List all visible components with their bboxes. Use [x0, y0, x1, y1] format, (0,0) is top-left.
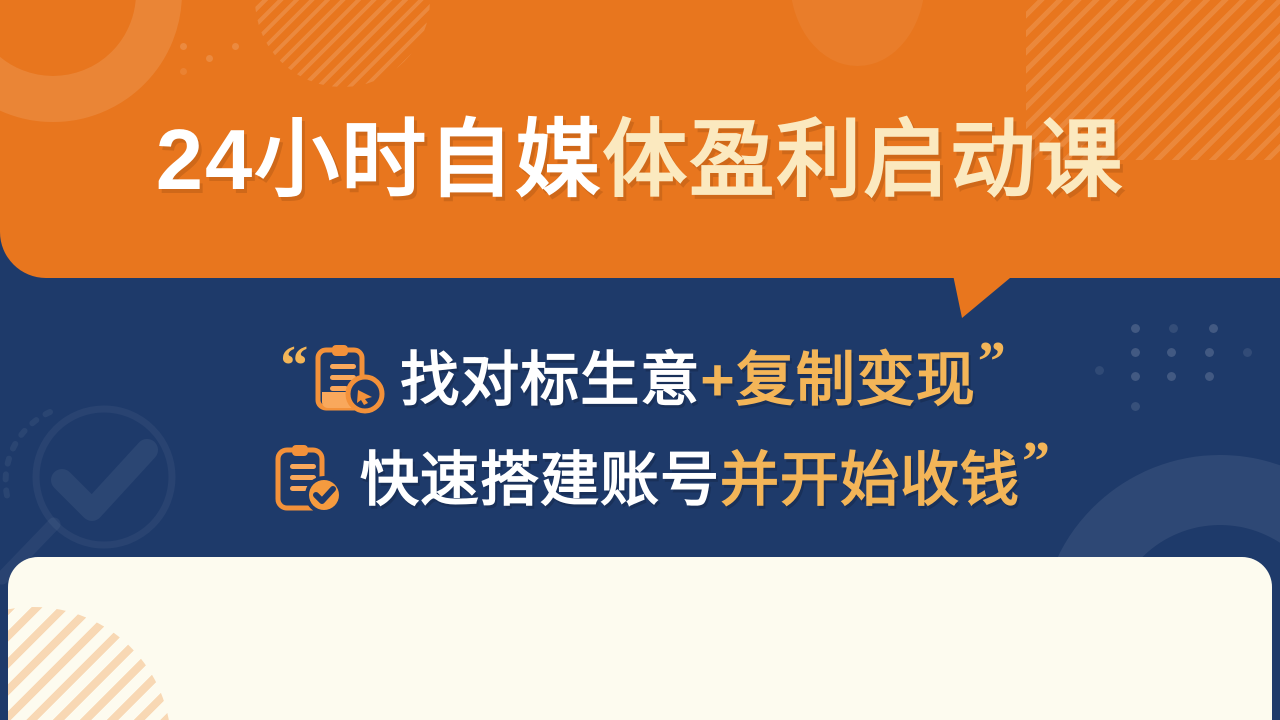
bottom-content-card [8, 557, 1272, 720]
speech-bubble-tail [952, 270, 1018, 320]
quote-open-mark: “ [280, 338, 308, 394]
ring-top-left-decoration [0, 0, 182, 122]
tagline-text: 找对标生意+复制变现 [400, 351, 975, 410]
tagline-row: 快速搭建账号并开始收钱 ” [0, 430, 1280, 530]
stripes-top-center-decoration [255, 0, 430, 87]
quote-close-mark: ” [978, 334, 1006, 390]
tagline-list: “ 找对标生意+复制变现 ” [0, 330, 1280, 530]
tagline-text-gold: 并开始收钱 [720, 447, 1020, 513]
title-segment-white: 24小时自媒 [156, 113, 603, 208]
tagline-text-white: 找对标生意 [400, 347, 700, 413]
tagline-text: 快速搭建账号并开始收钱 [360, 451, 1020, 510]
quote-close-mark: ” [1022, 434, 1050, 490]
clipboard-search-icon [310, 342, 386, 418]
oval-decoration [790, 0, 925, 66]
clipboard-check-icon [270, 442, 346, 518]
page-title: 24小时自媒体盈利启动课 [0, 118, 1280, 203]
poster-root: 24小时自媒体盈利启动课 “ 找对标生意+复制变现 ” [0, 0, 1280, 720]
tagline-text-gold: +复制变现 [700, 347, 975, 413]
title-segment-cream: 体盈利启动课 [602, 113, 1124, 208]
tagline-text-white: 快速搭建账号 [360, 447, 720, 513]
tagline-row: “ 找对标生意+复制变现 ” [0, 330, 1280, 430]
stripe-circle-decoration [8, 607, 171, 720]
